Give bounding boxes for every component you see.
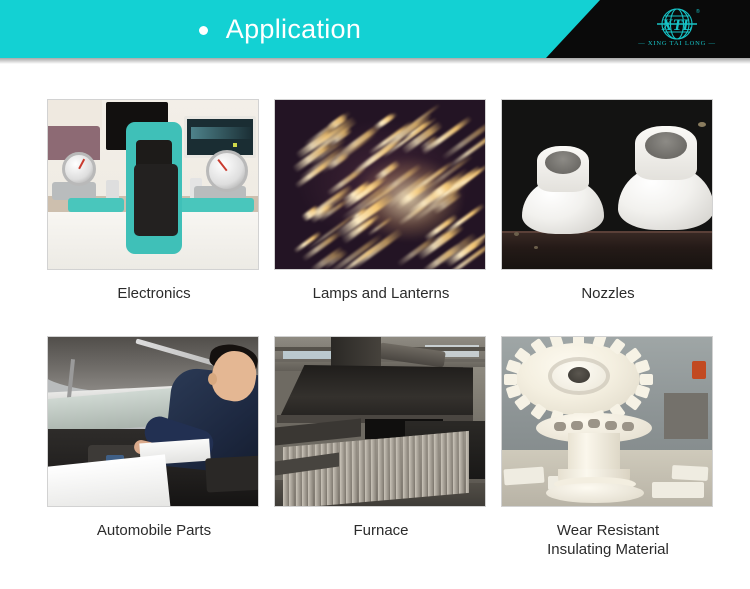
thumbnail-electronics[interactable] xyxy=(47,99,259,270)
company-logo: XTL ® — XING TAI LONG — xyxy=(629,6,725,54)
application-grid: Electronics Lamps and Lanterns xyxy=(0,64,750,538)
lamps-photo xyxy=(275,100,485,269)
nozzles-photo xyxy=(502,100,712,269)
svg-text:®: ® xyxy=(696,8,700,15)
card-caption: Automobile Parts xyxy=(47,521,261,540)
thumbnail-automobile-parts[interactable] xyxy=(47,336,259,507)
wear-resistant-photo xyxy=(502,337,712,506)
application-card-lamps[interactable]: Lamps and Lanterns xyxy=(274,99,488,303)
card-caption-line-1: Wear Resistant xyxy=(501,521,715,540)
thumbnail-nozzles[interactable] xyxy=(501,99,713,270)
header-title-group: Application xyxy=(0,0,560,58)
application-card-wear-resistant[interactable]: Wear Resistant Insulating Material xyxy=(501,336,715,559)
card-caption: Furnace xyxy=(274,521,488,540)
page-title: Application xyxy=(226,16,361,43)
card-caption: Wear Resistant Insulating Material xyxy=(501,521,715,559)
grid-row: Electronics Lamps and Lanterns xyxy=(0,64,750,301)
grid-row: Automobile Parts xyxy=(0,301,750,538)
application-card-nozzles[interactable]: Nozzles xyxy=(501,99,715,303)
thumbnail-wear-resistant[interactable] xyxy=(501,336,713,507)
application-card-electronics[interactable]: Electronics xyxy=(47,99,261,303)
svg-text:XTL: XTL xyxy=(661,17,692,34)
application-card-furnace[interactable]: Furnace xyxy=(274,336,488,540)
bullet-icon xyxy=(199,26,208,35)
thumbnail-lamps[interactable] xyxy=(274,99,486,270)
electronics-photo xyxy=(48,100,258,269)
thumbnail-furnace[interactable] xyxy=(274,336,486,507)
furnace-photo xyxy=(275,337,485,506)
page-header: Application XTL ® — XING TAI LONG — xyxy=(0,0,750,58)
card-caption-line-2: Insulating Material xyxy=(501,540,715,559)
automobile-parts-photo xyxy=(48,337,258,506)
application-card-automobile-parts[interactable]: Automobile Parts xyxy=(47,336,261,540)
logo-company-name: — XING TAI LONG — xyxy=(629,40,725,47)
